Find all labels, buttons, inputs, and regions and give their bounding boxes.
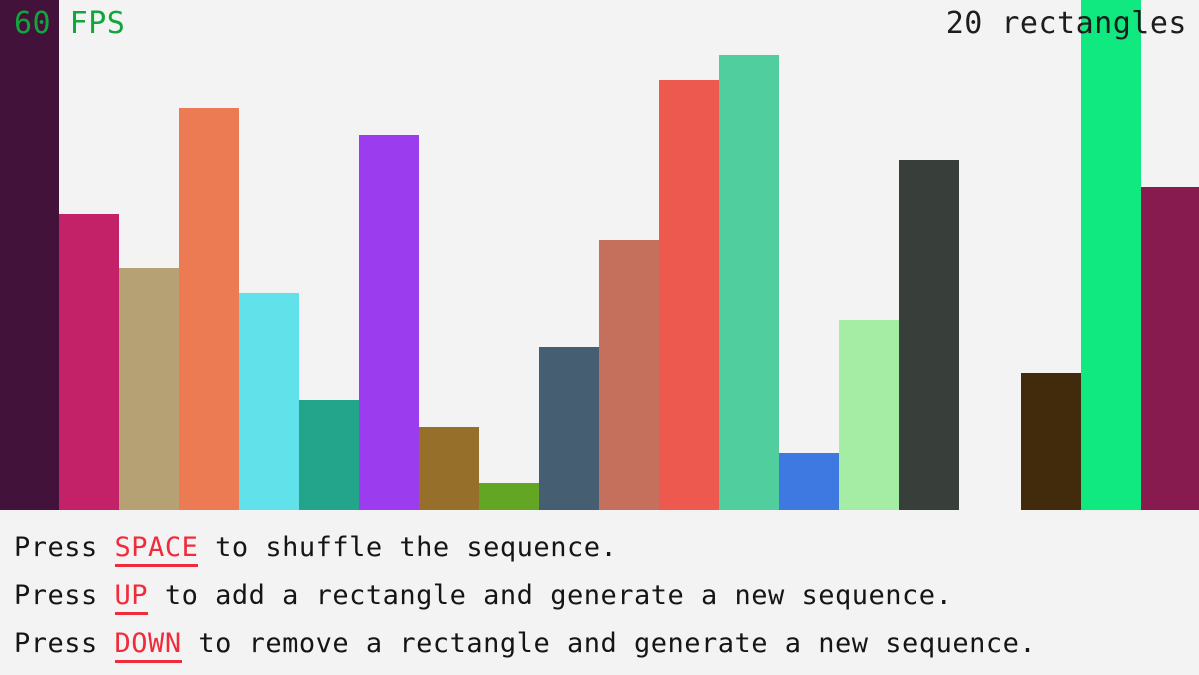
- key-hint-up[interactable]: UP: [115, 580, 149, 615]
- bar-rectangle: [1081, 0, 1141, 510]
- instruction-line: Press UP to add a rectangle and generate…: [14, 572, 1199, 620]
- bar-rectangle: [359, 135, 419, 510]
- bar-rectangle: [779, 453, 839, 510]
- instruction-line: Press DOWN to remove a rectangle and gen…: [14, 620, 1199, 668]
- bar-rectangle: [119, 268, 179, 510]
- bar-rectangle: [59, 214, 119, 510]
- bar-rectangle: [419, 427, 479, 510]
- instruction-suffix: to add a rectangle and generate a new se…: [148, 580, 952, 611]
- instruction-suffix: to remove a rectangle and generate a new…: [182, 628, 1037, 659]
- key-hint-space[interactable]: SPACE: [115, 532, 199, 567]
- rectangle-sequence-chart: [0, 0, 1199, 510]
- bar-rectangle: [0, 0, 59, 510]
- game-canvas: 60 FPS 20 rectangles Press SPACE to shuf…: [0, 0, 1199, 675]
- bar-rectangle: [479, 483, 539, 510]
- instruction-prefix: Press: [14, 628, 115, 659]
- bar-rectangle: [659, 80, 719, 510]
- bar-rectangle: [179, 108, 239, 510]
- bar-rectangle: [1021, 373, 1081, 510]
- bar-rectangle: [719, 55, 779, 510]
- bar-rectangle: [899, 160, 959, 510]
- key-hint-down[interactable]: DOWN: [115, 628, 182, 663]
- bar-rectangle: [1141, 187, 1199, 510]
- bar-rectangle: [299, 400, 359, 510]
- instruction-suffix: to shuffle the sequence.: [198, 532, 617, 563]
- bar-rectangle: [599, 240, 659, 510]
- instruction-prefix: Press: [14, 532, 115, 563]
- bar-rectangle: [239, 293, 299, 510]
- instructions-panel: Press SPACE to shuffle the sequence.Pres…: [0, 510, 1199, 675]
- bar-rectangle: [539, 347, 599, 510]
- instruction-prefix: Press: [14, 580, 115, 611]
- bar-rectangle: [839, 320, 899, 510]
- instruction-line: Press SPACE to shuffle the sequence.: [14, 524, 1199, 572]
